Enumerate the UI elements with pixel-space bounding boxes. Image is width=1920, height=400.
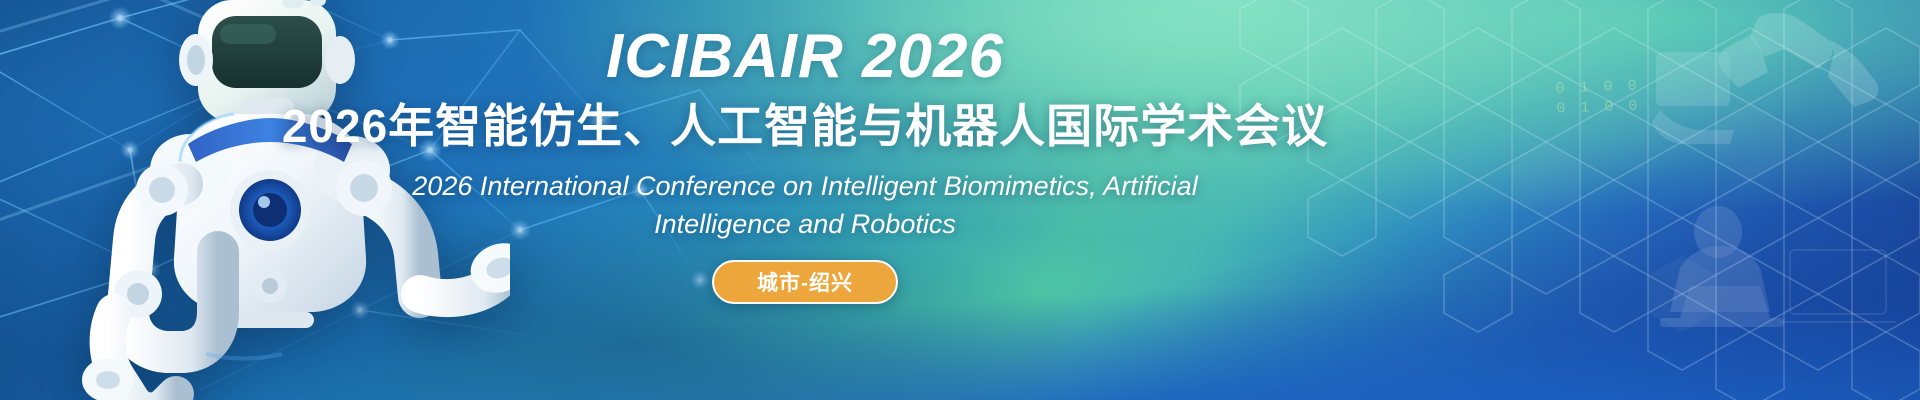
city-badge[interactable]: 城市-绍兴 [712,260,898,304]
conference-acronym-title: ICIBAIR 2026 [606,26,1004,88]
banner-text-block: ICIBAIR 2026 2026年智能仿生、人工智能与机器人国际学术会议 20… [300,0,1310,400]
technology-photo-overlay [1360,0,1920,400]
conference-title-chinese: 2026年智能仿生、人工智能与机器人国际学术会议 [282,100,1328,153]
binary-digits-overlay: 0 1 0 0 0 1 0 0 [1555,77,1640,120]
conference-title-english: 2026 International Conference on Intelli… [375,167,1235,244]
conference-banner: 0 1 0 0 0 1 0 0 [0,0,1920,400]
